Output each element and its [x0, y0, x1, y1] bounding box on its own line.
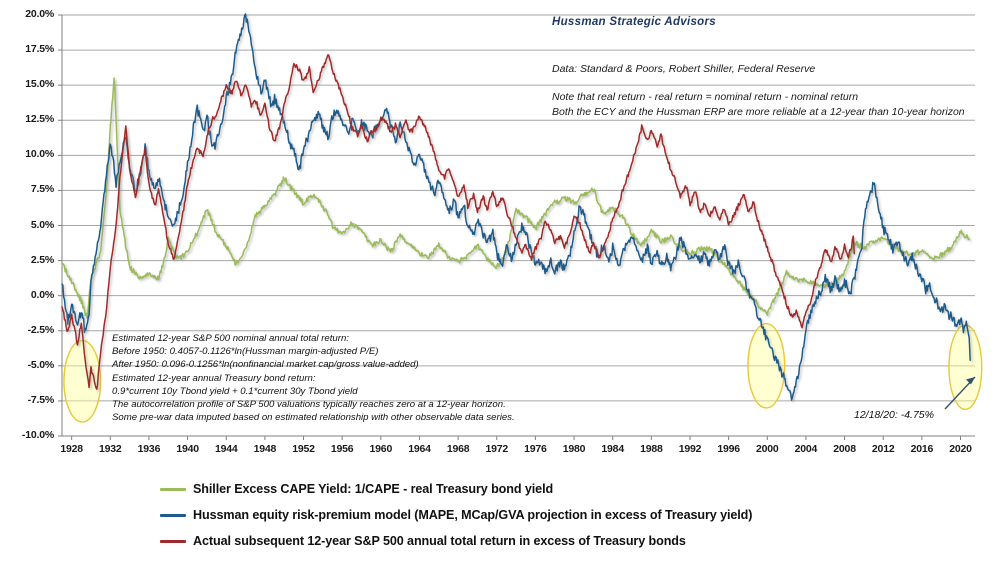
current-value-callout: 12/18/20: -4.75%	[854, 409, 934, 421]
highlight-ellipse-2020-extreme	[949, 325, 982, 409]
y-tick-label: -2.5%	[2, 324, 54, 336]
chart-source-title: Hussman Strategic Advisors	[552, 16, 716, 28]
y-tick-label: 2.5%	[2, 254, 54, 266]
chart-legend: Shiller Excess CAPE Yield: 1/CAPE - real…	[160, 476, 960, 554]
x-tick-label: 1928	[52, 443, 92, 455]
x-tick-label: 1996	[709, 443, 749, 455]
x-tick-label: 1956	[322, 443, 362, 455]
legend-color-swatch	[160, 514, 186, 517]
legend-label: Actual subsequent 12-year S&P 500 annual…	[193, 534, 686, 548]
methodology-line-4: Estimated 12-year annual Treasury bond r…	[112, 372, 515, 385]
legend-color-swatch	[160, 488, 186, 491]
x-tick-label: 1980	[554, 443, 594, 455]
legend-item[interactable]: Hussman equity risk-premium model (MAPE,…	[160, 502, 960, 528]
y-tick-label: 17.5%	[2, 43, 54, 55]
y-tick-label: 20.0%	[2, 8, 54, 20]
x-tick-label: 1988	[631, 443, 671, 455]
x-tick-label: 1972	[477, 443, 517, 455]
x-tick-label: 1948	[245, 443, 285, 455]
legend-label: Hussman equity risk-premium model (MAPE,…	[193, 508, 752, 522]
x-tick-label: 1952	[284, 443, 324, 455]
y-tick-label: -5.0%	[2, 359, 54, 371]
x-tick-label: 2004	[786, 443, 826, 455]
x-tick-label: 1992	[670, 443, 710, 455]
x-tick-label: 2008	[825, 443, 865, 455]
y-tick-label: -10.0%	[2, 429, 54, 441]
legend-item[interactable]: Shiller Excess CAPE Yield: 1/CAPE - real…	[160, 476, 960, 502]
x-tick-label: 1940	[168, 443, 208, 455]
methodology-line-1: Estimated 12-year S&P 500 nominal annual…	[112, 332, 515, 345]
real-return-note: Note that real return - real return = no…	[552, 91, 858, 103]
x-tick-label: 1932	[90, 443, 130, 455]
methodology-line-7: Some pre-war data imputed based on estim…	[112, 411, 515, 424]
methodology-line-5: 0.9*current 10y Tbond yield + 0.1*curren…	[112, 385, 515, 398]
legend-label: Shiller Excess CAPE Yield: 1/CAPE - real…	[193, 482, 553, 496]
highlight-ellipse-1929-extreme	[64, 341, 101, 422]
data-source-note: Data: Standard & Poors, Robert Shiller, …	[552, 63, 815, 75]
x-tick-label: 1960	[361, 443, 401, 455]
y-tick-label: 12.5%	[2, 113, 54, 125]
y-tick-label: 5.0%	[2, 219, 54, 231]
methodology-annotation: Estimated 12-year S&P 500 nominal annual…	[112, 332, 515, 424]
x-tick-label: 1984	[593, 443, 633, 455]
methodology-line-6: The autocorrelation profile of S&P 500 v…	[112, 398, 515, 411]
methodology-line-2: Before 1950: 0.4057-0.1126*ln(Hussman ma…	[112, 345, 515, 358]
y-tick-label: -7.5%	[2, 394, 54, 406]
x-tick-label: 1944	[206, 443, 246, 455]
x-tick-label: 2012	[863, 443, 903, 455]
chart-container: 20.0%17.5%15.0%12.5%10.0%7.5%5.0%2.5%0.0…	[0, 0, 1000, 561]
x-tick-label: 1976	[515, 443, 555, 455]
x-tick-label: 2000	[747, 443, 787, 455]
y-tick-label: 0.0%	[2, 289, 54, 301]
x-tick-label: 2016	[902, 443, 942, 455]
y-tick-label: 10.0%	[2, 148, 54, 160]
legend-item[interactable]: Actual subsequent 12-year S&P 500 annual…	[160, 528, 960, 554]
x-tick-label: 1968	[438, 443, 478, 455]
x-tick-label: 2020	[941, 443, 981, 455]
x-tick-label: 1936	[129, 443, 169, 455]
legend-color-swatch	[160, 540, 186, 543]
methodology-line-3: After 1950: 0.096-0.1256*ln(nonfinancial…	[112, 358, 515, 371]
y-tick-label: 7.5%	[2, 183, 54, 195]
y-tick-label: 15.0%	[2, 78, 54, 90]
x-tick-label: 1964	[399, 443, 439, 455]
horizon-reliability-note: Both the ECY and the Hussman ERP are mor…	[552, 106, 965, 118]
